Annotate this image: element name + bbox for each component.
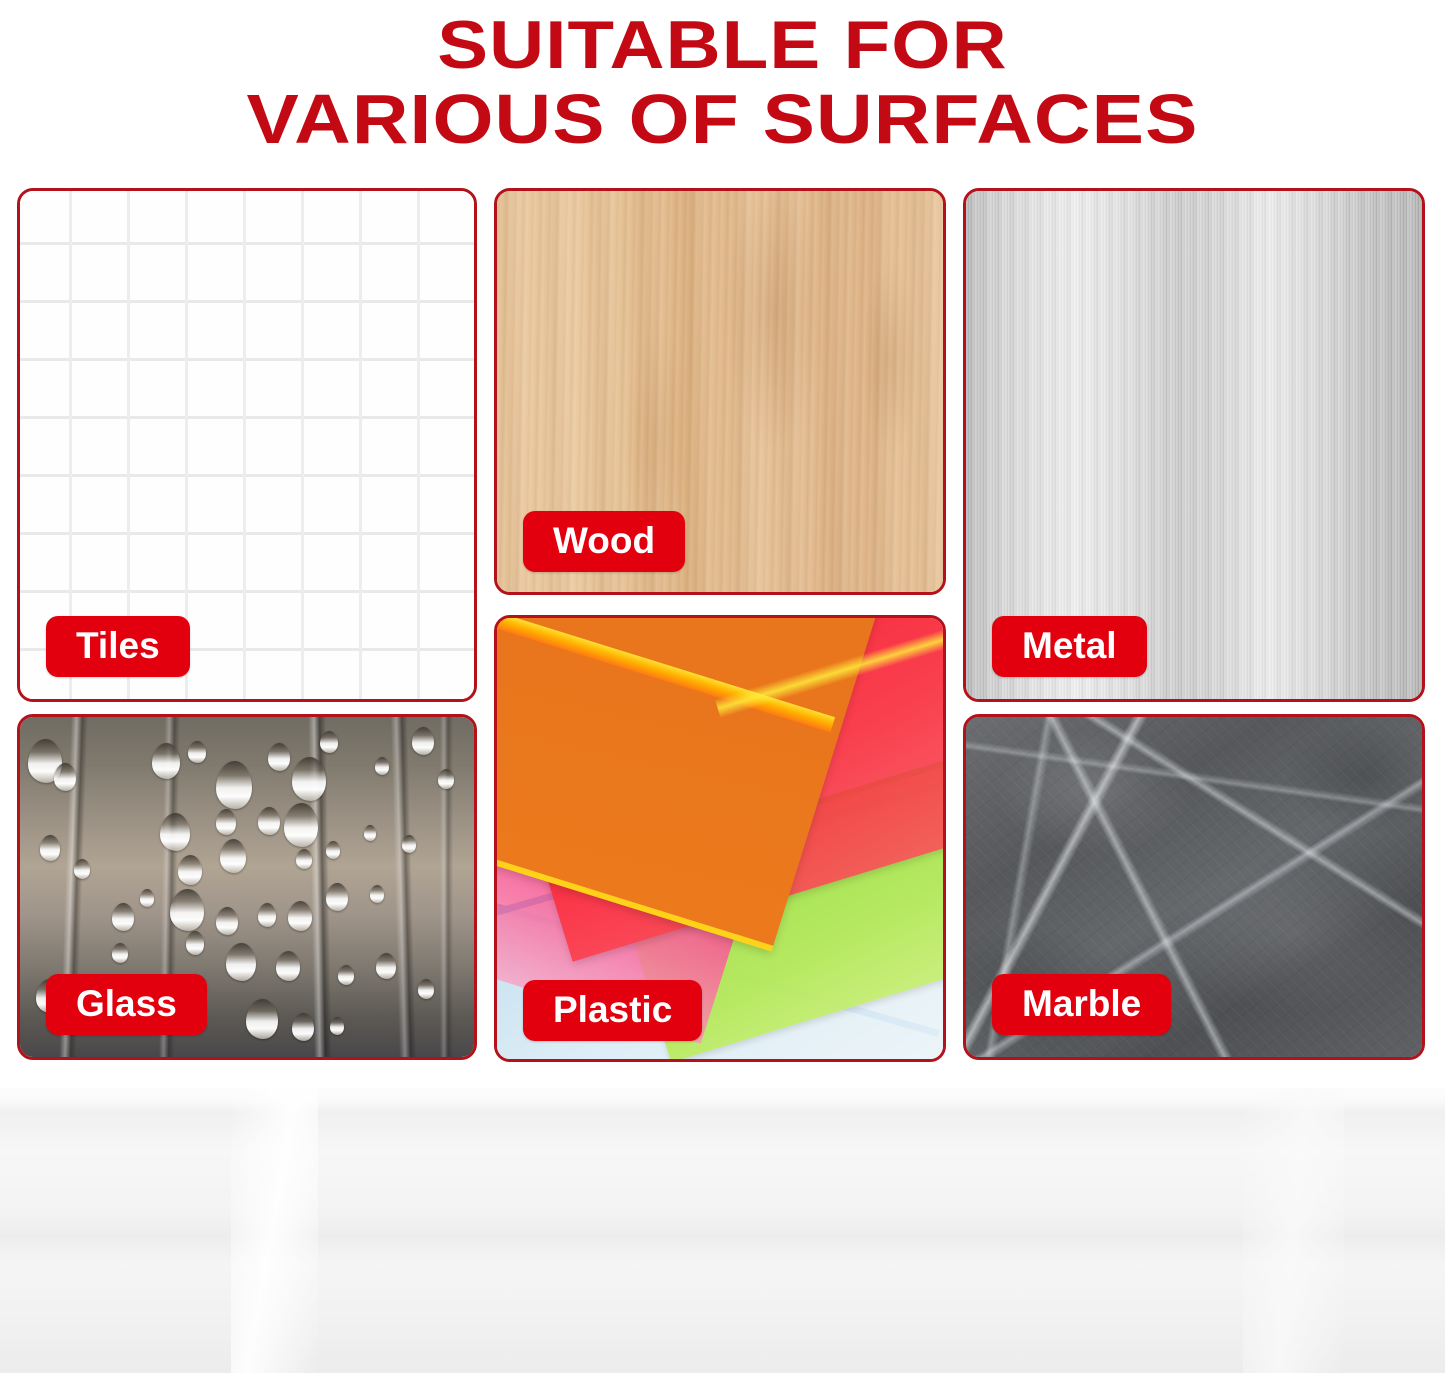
surface-card-metal: Metal <box>963 188 1425 702</box>
water-droplet <box>288 901 312 931</box>
water-droplet <box>74 859 90 879</box>
water-droplet <box>216 761 252 809</box>
water-droplet <box>438 769 454 789</box>
water-droplet <box>216 809 236 835</box>
water-droplet <box>246 999 278 1039</box>
water-droplet <box>402 835 416 853</box>
water-droplet <box>268 743 290 771</box>
water-droplet <box>338 965 354 985</box>
surface-card-plastic: Plastic <box>494 615 946 1062</box>
water-droplet <box>364 825 376 841</box>
water-droplet <box>112 903 134 931</box>
surface-card-tiles: Tiles <box>17 188 477 702</box>
surface-top-highlight <box>0 1088 1445 1108</box>
water-droplet <box>375 757 389 775</box>
surface-card-wood: Wood <box>494 188 946 595</box>
page-title: SUITABLE FOR VARIOUS OF SURFACES <box>0 0 1445 178</box>
water-droplet <box>170 889 204 931</box>
water-droplet <box>258 903 276 927</box>
surface-seam-left <box>231 1088 318 1373</box>
water-droplet <box>112 943 128 963</box>
surface-label-plastic: Plastic <box>523 980 702 1041</box>
water-droplet <box>160 813 190 851</box>
water-droplet <box>320 731 338 753</box>
surface-label-glass: Glass <box>46 974 207 1035</box>
page-title-line-2: VARIOUS OF SURFACES <box>0 82 1445 156</box>
surface-seam-right <box>1243 1088 1344 1373</box>
water-droplet <box>292 757 326 801</box>
water-droplet <box>54 763 76 791</box>
water-droplet <box>216 907 238 935</box>
water-droplet <box>292 1013 314 1041</box>
surface-label-metal: Metal <box>992 616 1147 677</box>
water-droplet <box>276 951 300 981</box>
water-droplet <box>140 889 154 907</box>
water-droplet <box>296 849 312 869</box>
water-droplet <box>220 839 246 873</box>
water-droplet <box>152 743 180 779</box>
water-droplet <box>330 1017 344 1035</box>
water-droplet <box>284 803 318 847</box>
water-droplet <box>178 855 202 885</box>
water-droplet <box>370 885 384 903</box>
surface-card-glass: Glass <box>17 714 477 1060</box>
water-droplet <box>326 883 348 911</box>
water-droplet <box>40 835 60 861</box>
surface-label-wood: Wood <box>523 511 685 572</box>
water-droplet <box>188 741 206 763</box>
surface-label-marble: Marble <box>992 974 1171 1035</box>
surface-card-marble: Marble <box>963 714 1425 1060</box>
water-droplet <box>412 727 434 755</box>
product-surface-strip <box>0 1088 1445 1373</box>
water-droplet <box>326 841 340 859</box>
water-droplet <box>258 807 280 835</box>
page-title-line-1: SUITABLE FOR <box>0 8 1445 82</box>
water-droplet <box>376 953 396 979</box>
water-droplet <box>186 931 204 955</box>
water-droplet <box>226 943 256 981</box>
water-droplet <box>418 979 434 999</box>
surface-label-tiles: Tiles <box>46 616 190 677</box>
